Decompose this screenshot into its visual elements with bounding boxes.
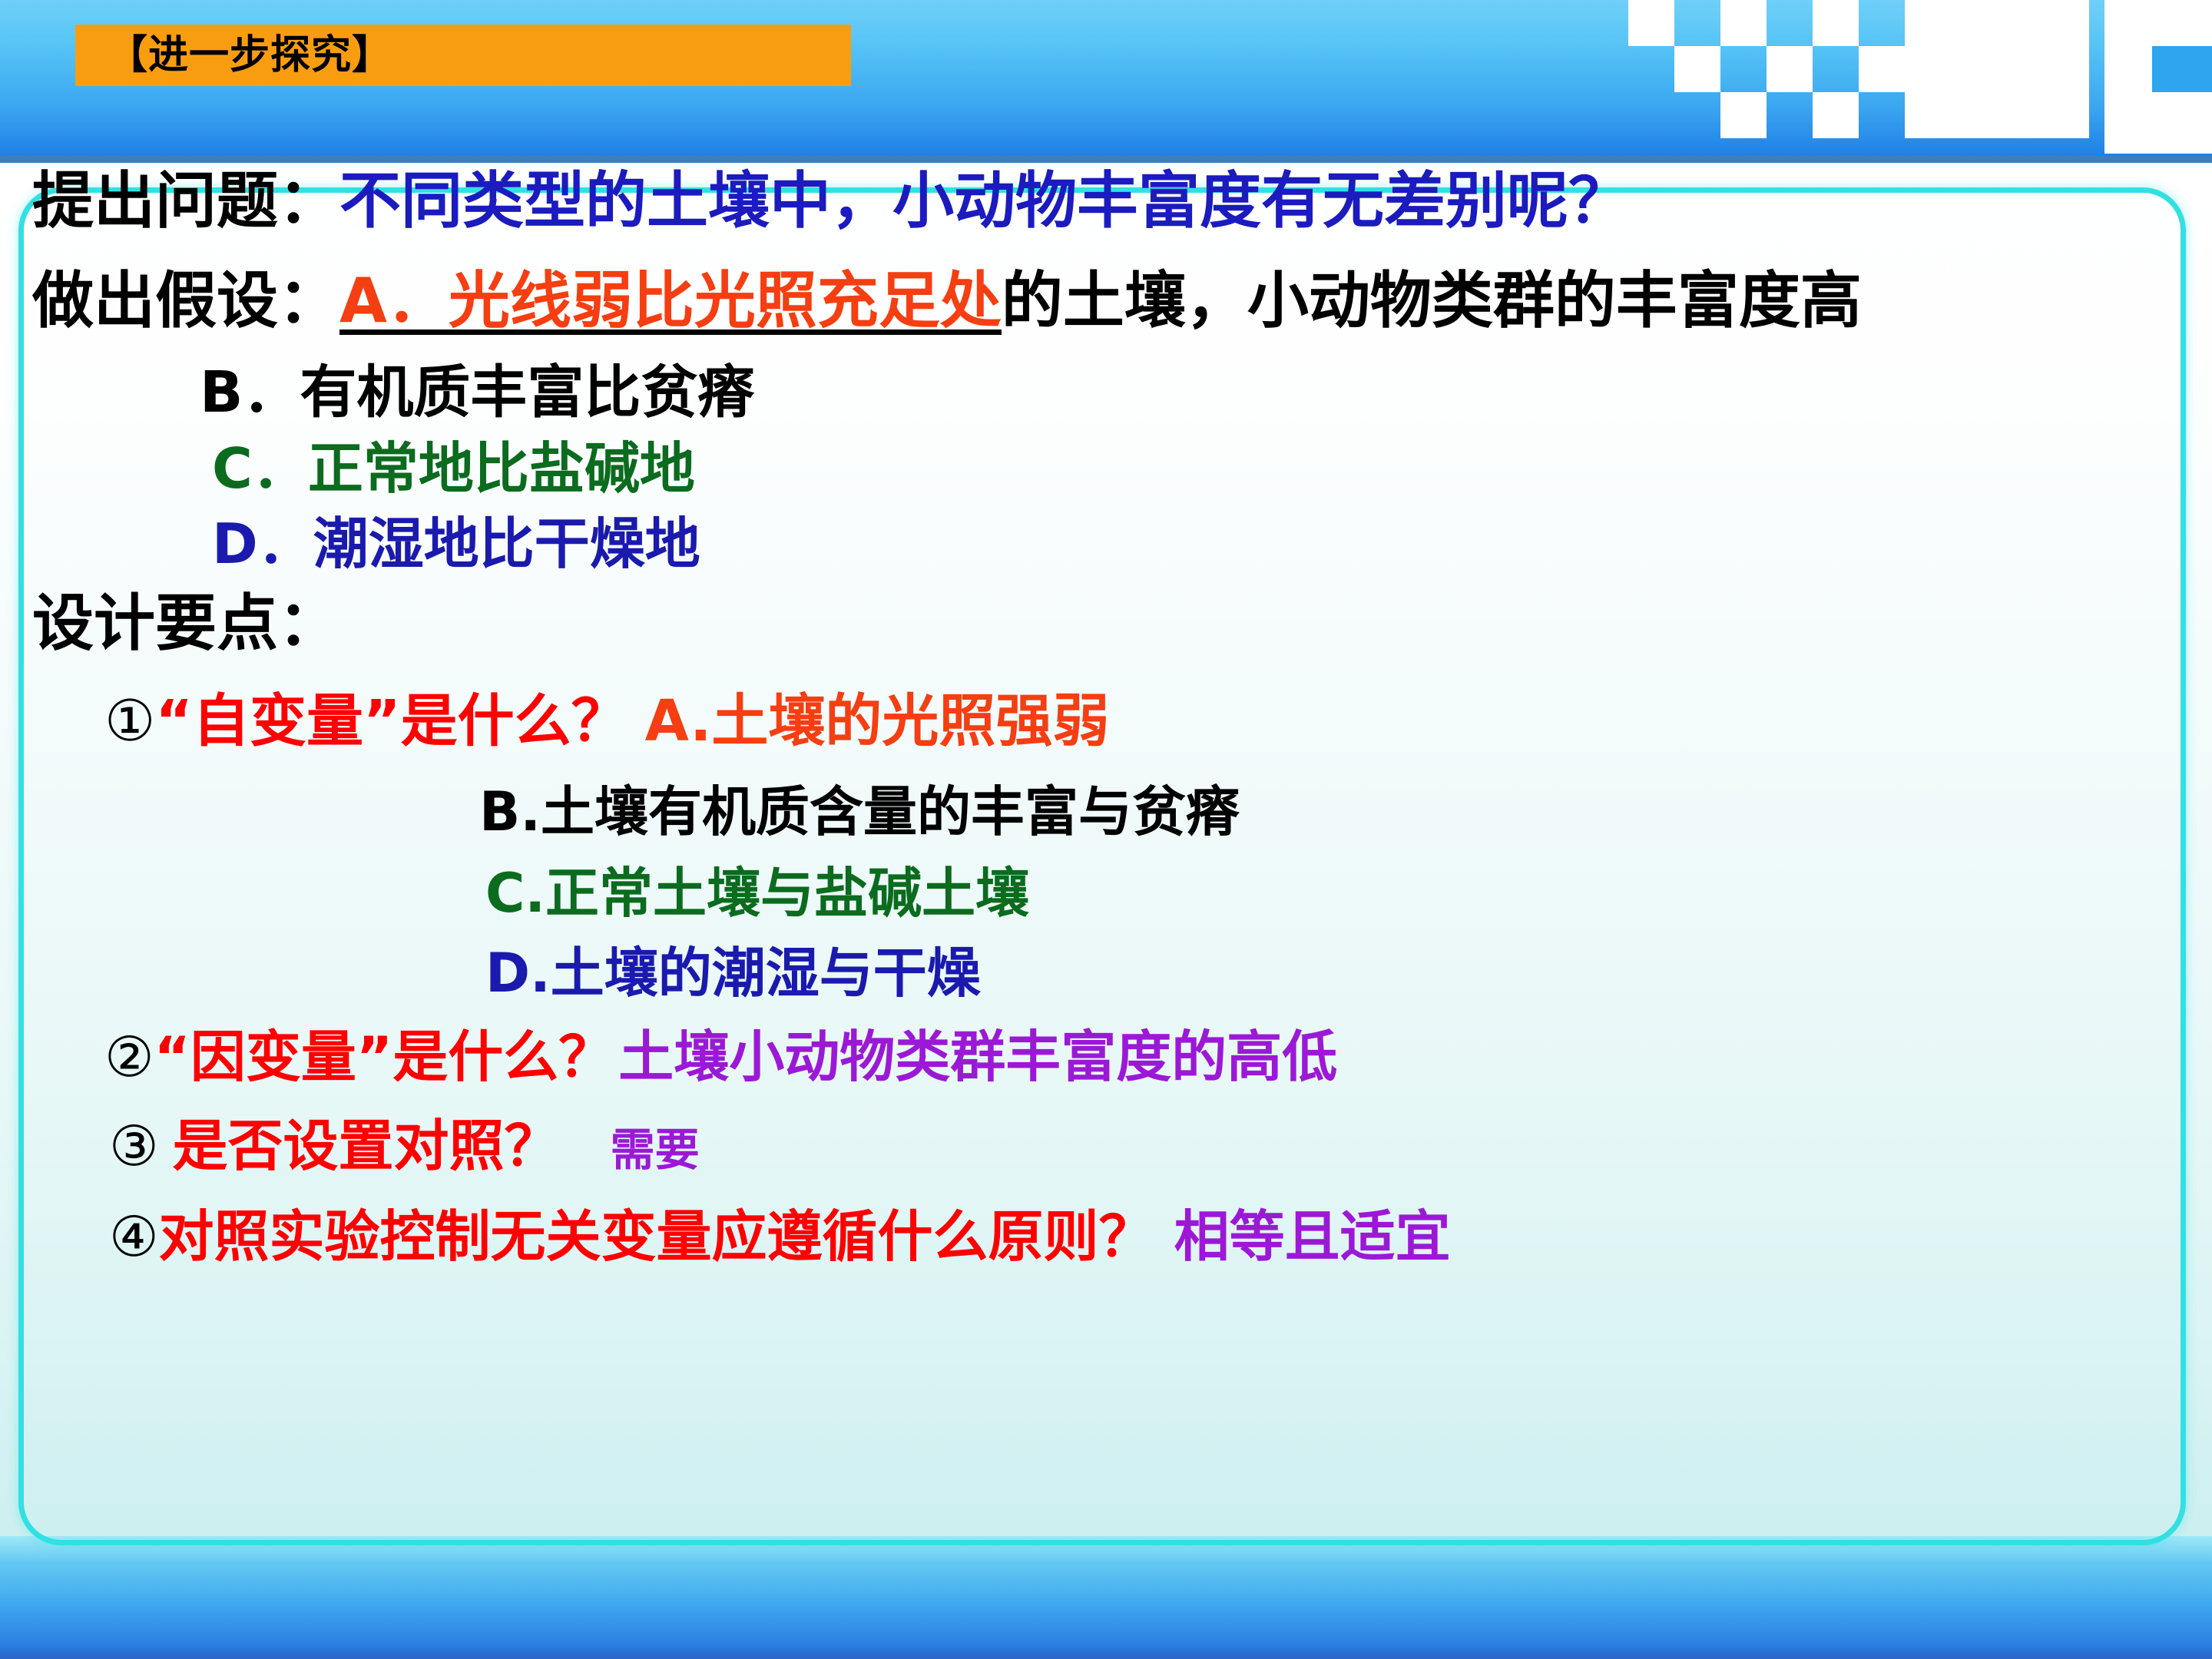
design-item-2-question: “因变量”是什么？ [154,1025,614,1089]
design-item-4-marker: ④ [109,1204,159,1269]
design-item-1-row: ①“自变量”是什么？A.土壤的光照强弱 [104,693,1109,750]
design-item-3-question: 是否设置对照？ [173,1114,560,1178]
checker-cell [1905,0,1951,46]
hypothesis-row: 做出假设：A．光线弱比光照充足处的土壤，小动物类群的丰富度高 [32,270,1862,332]
design-item-4-answer: 相等且适宜 [1174,1204,1451,1269]
hypothesis-option-a-rest: 的土壤，小动物类群的丰富度高 [1002,265,1862,336]
design-item-4-question: 对照实验控制无关变量应遵循什么原则？ [159,1204,1154,1269]
design-item-2-row: ②“因变量”是什么？土壤小动物类群丰富度的高低 [104,1029,1337,1084]
design-item-1-option-c: C.正常土壤与盐碱土壤 [485,866,1029,920]
checker-cell [1951,46,1997,92]
checker-cell [1720,92,1767,138]
design-item-1-option-d: D.土壤的潮湿与干燥 [485,946,981,1000]
checker-cell [1628,0,1674,46]
hypothesis-option-c: C．正常地比盐碱地 [212,441,695,496]
hypothesis-option-d: D．潮湿地比干燥地 [212,516,700,571]
checker-cell [1951,92,1997,138]
checker-cell [1997,46,2043,92]
header-band-bottom-edge [0,155,2212,163]
design-item-2-marker: ② [104,1025,154,1089]
checker-cell [1767,46,1813,92]
checkerboard-decoration-icon [1628,0,2120,154]
design-item-3-row: ③是否设置对照？需要 [109,1118,700,1174]
checker-cell [1720,0,1767,46]
question-text: 不同类型的土壤中，小动物丰富度有无差别呢？ [339,165,1630,237]
question-row: 提出问题：不同类型的土壤中，小动物丰富度有无差别呢？ [32,171,1630,232]
checker-cell [1951,0,1997,46]
checker-isolated-square [2152,46,2212,92]
section-banner-label: 【进一步探究】 [108,35,392,75]
design-item-3-marker: ③ [109,1114,159,1178]
slide-root: 【进一步探究】 提出问题：不同类型的土壤中，小动物丰富度有无差别呢？ 做出假设：… [0,0,2212,1659]
content-body: 提出问题：不同类型的土壤中，小动物丰富度有无差别呢？ 做出假设：A．光线弱比光照… [18,187,2186,1545]
hypothesis-label: 做出假设： [32,265,339,336]
checker-cell [2043,92,2089,138]
section-banner: 【进一步探究】 [75,25,851,86]
design-item-1-option-b: B.土壤有机质含量的丰富与贫瘠 [479,785,1240,839]
checker-cell [1905,46,1951,92]
checker-cell [1813,92,1859,138]
hypothesis-option-a-highlight: A．光线弱比光照充足处 [339,265,1002,336]
checker-cell [2043,46,2089,92]
checker-cell [1859,46,1905,92]
design-points-title: 设计要点： [32,593,339,654]
question-label: 提出问题： [32,165,339,237]
hypothesis-option-b: B．有机质丰富比贫瘠 [200,364,754,421]
checker-cell [1997,0,2043,46]
checker-cell [1997,92,2043,138]
design-item-3-answer: 需要 [611,1124,700,1176]
design-item-4-row: ④对照实验控制无关变量应遵循什么原则？相等且适宜 [109,1209,1451,1264]
checker-cell [1674,46,1720,92]
checker-cell [1813,0,1859,46]
checker-cell [2043,0,2089,46]
footer-blue-band [0,1536,2212,1659]
design-item-1-question: “自变量”是什么？ [155,688,628,754]
checker-cell [1905,92,1951,138]
design-item-2-answer: 土壤小动物类群丰富度的高低 [618,1025,1337,1089]
design-item-1-marker: ① [104,688,155,754]
design-item-1-option-a: A.土壤的光照强弱 [645,688,1110,754]
